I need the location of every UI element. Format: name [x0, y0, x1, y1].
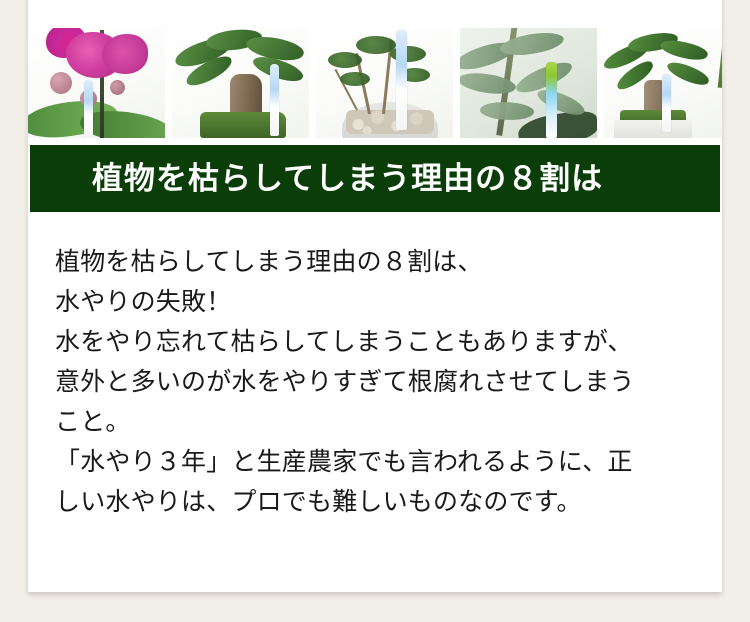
moisture-meter-icon [662, 74, 671, 132]
foliage-shape [328, 52, 362, 68]
moisture-meter-icon [546, 62, 557, 138]
page-root: 植物を枯らしてしまう理由の８割は 植物を枯らしてしまう理由の８割は、 水やりの失… [0, 0, 750, 622]
pot-shape [614, 120, 692, 138]
body-line: こと。 [55, 402, 705, 442]
plant-photo-strip [28, 28, 722, 138]
foliage-shape [340, 72, 370, 86]
body-line: 意外と多いのが水をやりすぎて根腐れさせてしまう [55, 362, 705, 402]
content-card: 植物を枯らしてしまう理由の８割は 植物を枯らしてしまう理由の８割は、 水やりの失… [28, 0, 722, 592]
orchid-bud [110, 80, 125, 95]
leaf-shape [665, 57, 711, 90]
body-line: 水をやり忘れて枯らしてしまうこともありますが、 [55, 322, 705, 362]
leaf-shape [659, 36, 710, 65]
gallery-photo-pachira-white-pot[interactable] [604, 28, 722, 138]
body-copy: 植物を枯らしてしまう理由の８割は、 水やりの失敗！ 水をやり忘れて枯らしてしまう… [55, 242, 705, 522]
orchid-bud [50, 72, 72, 94]
gallery-photo-bonsai-gravel[interactable] [316, 28, 453, 138]
body-line: 植物を枯らしてしまう理由の８割は、 [55, 242, 705, 282]
stem-shape [718, 28, 722, 88]
body-line: 水やりの失敗！ [55, 282, 705, 322]
moisture-meter-icon [270, 64, 279, 136]
body-line: 「水やり３年」と生産農家でも言われるように、正 [55, 442, 705, 482]
gallery-photo-orchid[interactable] [28, 28, 165, 138]
banner-title-text: 植物を枯らしてしまう理由の８割は [92, 163, 603, 194]
gravel-shape [346, 110, 434, 134]
gallery-photo-succulent-closeup[interactable] [460, 28, 597, 138]
gallery-photo-pachira-moss[interactable] [172, 28, 309, 138]
orchid-bloom [102, 34, 148, 74]
section-title-banner: 植物を枯らしてしまう理由の８割は [30, 145, 720, 212]
moisture-meter-icon [396, 30, 407, 130]
moisture-meter-icon [84, 80, 93, 138]
body-line: しい水やりは、プロでも難しいものなのです。 [55, 482, 705, 522]
